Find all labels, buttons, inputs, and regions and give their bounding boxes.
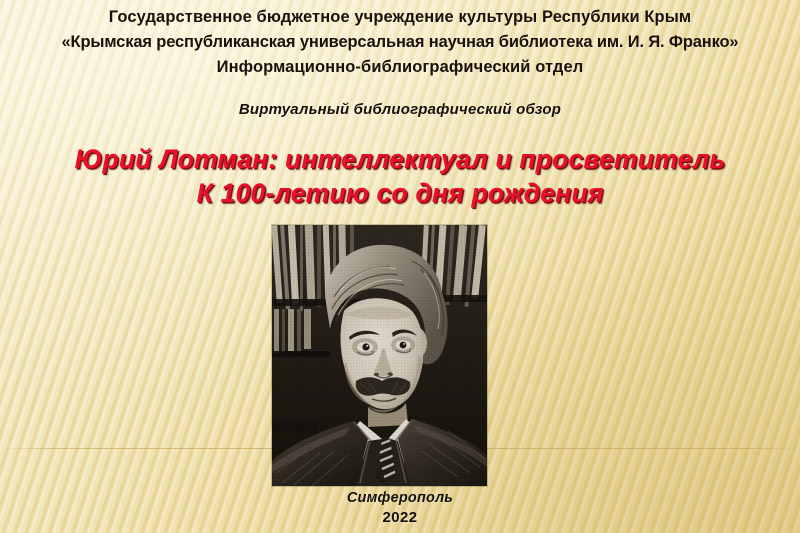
footer-year: 2022 [0,508,800,528]
header-line-department: Информационно-библиографический отдел [0,55,800,80]
header-line-institution: Государственное бюджетное учреждение кул… [0,5,800,30]
portrait-illustration [272,225,487,486]
footer-city: Симферополь [0,488,800,508]
header-line-library-name: «Крымская республиканская универсальная … [0,30,800,55]
presentation-slide: Государственное бюджетное учреждение кул… [0,0,800,533]
subtitle-kicker: Виртуальный библиографический обзор [0,101,800,118]
portrait-photo [272,225,487,486]
organization-header: Государственное бюджетное учреждение кул… [0,5,800,80]
title-line-anniversary: К 100-летию со дня рождения [0,176,800,210]
page-title: Юрий Лотман: интеллектуал и просветитель… [0,142,800,210]
title-line-main: Юрий Лотман: интеллектуал и просветитель [0,142,800,176]
slide-footer: Симферополь 2022 [0,488,800,528]
